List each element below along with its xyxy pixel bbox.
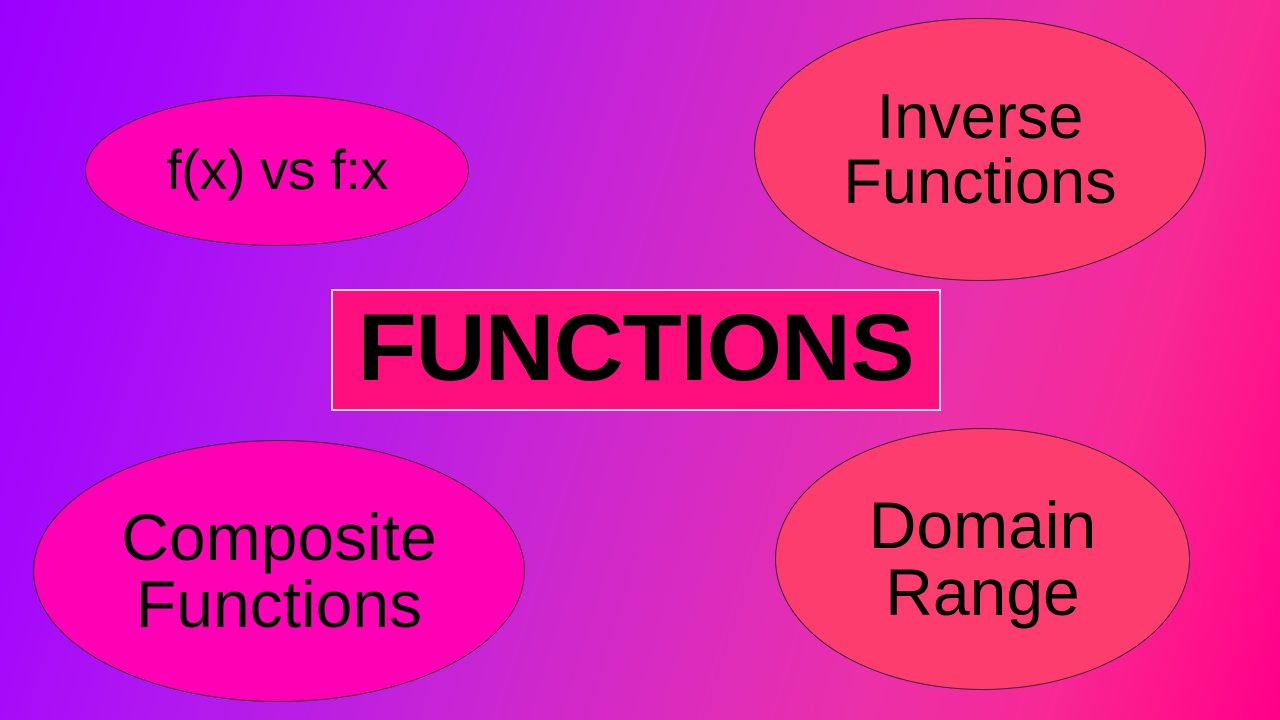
topic-bubble-composite-functions[interactable]: Composite Functions — [33, 440, 525, 702]
slide-canvas: f(x) vs f:x Inverse Functions FUNCTIONS … — [0, 0, 1280, 720]
topic-bubble-label: Inverse Functions — [843, 85, 1116, 214]
topic-bubble-inverse-functions[interactable]: Inverse Functions — [754, 18, 1206, 281]
topic-bubble-label: Composite Functions — [121, 504, 436, 639]
topic-bubble-domain-range[interactable]: Domain Range — [775, 428, 1190, 690]
center-title-banner[interactable]: FUNCTIONS — [331, 289, 941, 411]
topic-bubble-fx-vs-fcolonx[interactable]: f(x) vs f:x — [85, 95, 469, 246]
page-title: FUNCTIONS — [358, 300, 914, 397]
topic-bubble-label: Domain Range — [869, 492, 1096, 627]
topic-bubble-label: f(x) vs f:x — [166, 141, 388, 198]
